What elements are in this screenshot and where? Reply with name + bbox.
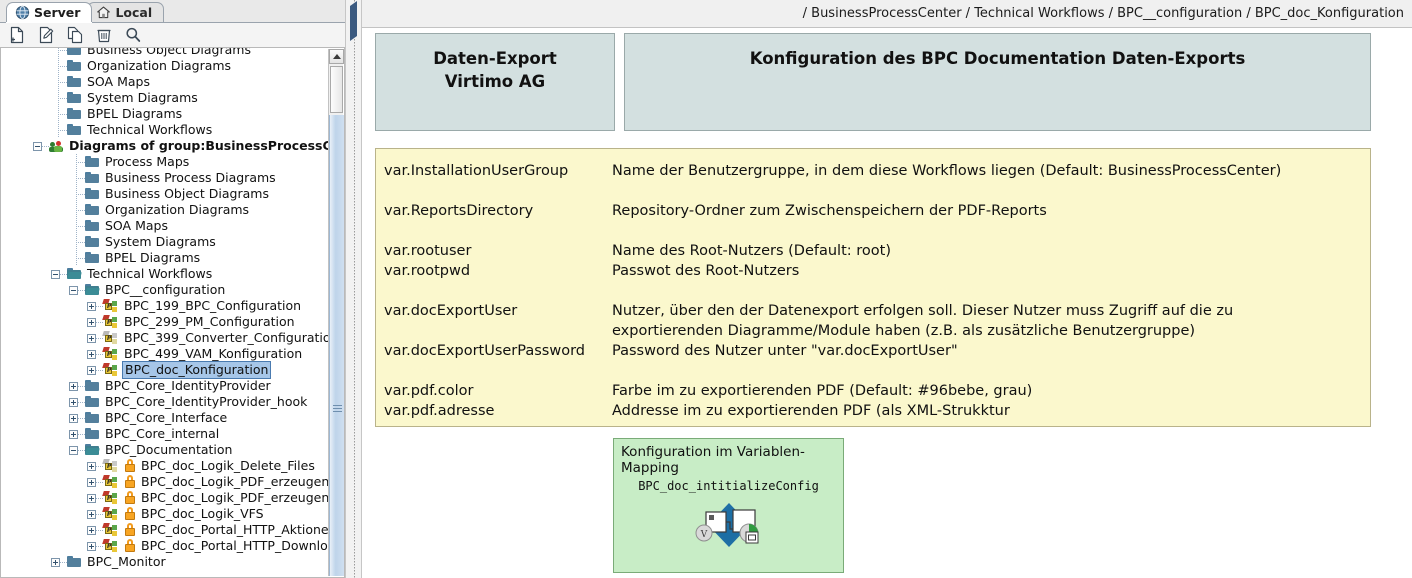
variable-mapping-box[interactable]: Konfiguration im Variablen-Mapping BPC_d…	[613, 438, 844, 573]
tree-connector	[49, 106, 67, 122]
globe-icon	[15, 5, 30, 20]
folder-icon	[85, 396, 100, 409]
diagram-title: Konfiguration des BPC Documentation Date…	[750, 47, 1246, 130]
tree-item[interactable]: BPC_Core_IdentityProvider_hook	[1, 394, 328, 410]
tree-indent	[1, 314, 85, 330]
tree-item[interactable]: BPC_Core_IdentityProvider	[1, 378, 328, 394]
company-title-line1: Daten-Export	[433, 47, 557, 70]
tree-expand-toggle[interactable]	[67, 426, 85, 442]
workflow-diagram-icon: P	[103, 491, 120, 505]
workflow-diagram-icon: P	[103, 347, 120, 361]
company-title-line2: Virtimo AG	[433, 70, 557, 93]
folder-icon	[67, 92, 82, 105]
tree-indent	[1, 298, 85, 314]
tree-item-label: BPC_Core_Interface	[105, 410, 227, 426]
tree-item[interactable]: Organization Diagrams	[1, 202, 328, 218]
tree-expand-toggle[interactable]	[85, 298, 103, 314]
doc-variable-description: Name der Benutzergruppe, in dem diese Wo…	[612, 161, 1281, 181]
tree-indent	[1, 186, 67, 202]
doc-variable-row: var.docExportUserPasswordPassword des Nu…	[384, 341, 958, 361]
tree-item[interactable]: BPC_Core_Interface	[1, 410, 328, 426]
tree-item[interactable]: Process Maps	[1, 154, 328, 170]
tree-item-label: Business Object Diagrams	[87, 48, 251, 58]
variable-mapping-title: Konfiguration im Variablen-Mapping	[621, 444, 843, 476]
tree-connector	[67, 186, 85, 202]
lock-icon	[124, 539, 136, 553]
repository-panel: Server Local	[0, 0, 345, 578]
scrollbar-thumb[interactable]	[330, 66, 343, 113]
diagram-editor-panel: / BusinessProcessCenter / Technical Work…	[362, 0, 1412, 578]
tree-indent	[1, 90, 49, 106]
scrollbar-track[interactable]	[329, 115, 344, 576]
tree-item[interactable]: PBPC_doc_Portal_HTTP_Aktionen	[1, 522, 328, 538]
tree-expand-toggle[interactable]	[85, 490, 103, 506]
repository-tree-container: Business Object DiagramsOrganization Dia…	[0, 48, 345, 578]
tree-indent	[1, 426, 67, 442]
tree-connector	[49, 58, 67, 74]
tree-item[interactable]: BPEL Diagrams	[1, 106, 328, 122]
tree-item-label: Technical Workflows	[87, 122, 212, 138]
tree-item[interactable]: PBPC_499_VAM_Konfiguration	[1, 346, 328, 362]
tree-indent	[1, 330, 85, 346]
folder-icon	[85, 204, 100, 217]
variable-mapping-node-label: BPC_doc_intitializeConfig	[614, 479, 843, 493]
panel-tabstrip: Server Local	[0, 0, 345, 23]
tree-item[interactable]: System Diagrams	[1, 234, 328, 250]
tree-indent	[1, 202, 67, 218]
tree-item[interactable]: PBPC_doc_Portal_HTTP_Downloa	[1, 538, 328, 554]
tree-indent	[1, 378, 67, 394]
tree-connector	[49, 122, 67, 138]
breadcrumb-path: / BusinessProcessCenter / Technical Work…	[803, 6, 1404, 21]
tree-indent	[1, 74, 49, 90]
tree-indent	[1, 106, 49, 122]
tree-expand-toggle[interactable]	[85, 346, 103, 362]
tree-indent	[1, 218, 67, 234]
tree-item-label: BPC__configuration	[105, 282, 225, 298]
header-box-title[interactable]: Konfiguration des BPC Documentation Date…	[624, 33, 1371, 131]
tree-indent	[1, 474, 85, 490]
tree-item-label: Process Maps	[105, 154, 189, 170]
tree-item-label: Business Process Diagrams	[105, 170, 276, 186]
tree-item-label: BPC_199_BPC_Configuration	[124, 298, 301, 314]
lock-icon	[124, 507, 136, 521]
doc-variable-name: var.docExportUserPassword	[384, 341, 612, 361]
tree-indent	[1, 138, 31, 154]
folder-open-icon	[67, 268, 82, 281]
workflow-diagram-icon: P	[103, 459, 120, 473]
tree-item[interactable]: PBPC_doc_Konfiguration	[1, 362, 328, 378]
tree-expand-toggle[interactable]	[67, 282, 85, 298]
lock-icon	[124, 491, 136, 505]
tree-item[interactable]: SOA Maps	[1, 74, 328, 90]
group-icon	[49, 140, 64, 153]
repository-toolbar	[0, 23, 345, 48]
doc-variable-description: Repository-Ordner zum Zwischenspeichern …	[612, 201, 1047, 221]
tree-item-label: BPC_499_VAM_Konfiguration	[124, 346, 302, 362]
tab-server-label: Server	[34, 5, 80, 20]
folder-icon	[85, 156, 100, 169]
folder-icon	[85, 412, 100, 425]
folder-icon	[67, 108, 82, 121]
folder-icon	[85, 188, 100, 201]
tree-expand-toggle[interactable]	[85, 474, 103, 490]
tree-indent	[1, 58, 49, 74]
tree-indent	[1, 554, 49, 570]
split-pane-divider[interactable]	[345, 0, 362, 578]
doc-variable-row: var.rootuserName des Root-Nutzers (Defau…	[384, 241, 891, 261]
doc-variable-name: var.InstallationUserGroup	[384, 161, 612, 181]
copy-icon[interactable]	[65, 26, 84, 45]
tree-connector	[49, 90, 67, 106]
tree-indent	[1, 48, 49, 58]
tree-item[interactable]: Technical Workflows	[1, 122, 328, 138]
folder-open-icon	[85, 284, 100, 297]
documentation-box[interactable]: var.InstallationUserGroupName der Benutz…	[375, 148, 1371, 427]
tree-item[interactable]: BPC_Monitor	[1, 554, 328, 570]
folder-icon	[67, 48, 82, 57]
doc-variable-description: Farbe im zu exportierenden PDF (Default:…	[612, 381, 1032, 401]
workflow-diagram-icon: P	[103, 507, 120, 521]
tree-expand-toggle[interactable]	[67, 378, 85, 394]
doc-variable-description: Name des Root-Nutzers (Default: root)	[612, 241, 891, 261]
home-icon	[96, 5, 111, 20]
doc-variable-row: var.pdf.colorFarbe im zu exportierenden …	[384, 381, 1032, 401]
doc-variable-name: var.rootpwd	[384, 261, 612, 281]
doc-variable-name: var.ReportsDirectory	[384, 201, 612, 221]
folder-icon	[67, 76, 82, 89]
tree-item-label: BPC_doc_Logik_Delete_Files	[141, 458, 315, 474]
tree-indent	[1, 490, 85, 506]
tree-item[interactable]: Technical Workflows	[1, 266, 328, 282]
workflow-diagram-icon: P	[103, 331, 120, 345]
tab-local-label: Local	[115, 5, 152, 20]
tree-item-label: BPC_Core_internal	[105, 426, 219, 442]
tree-item-label: BPC_doc_Portal_HTTP_Aktionen	[141, 522, 328, 538]
tree-indent	[1, 234, 67, 250]
tree-item[interactable]: BPEL Diagrams	[1, 250, 328, 266]
tree-connector	[67, 170, 85, 186]
search-icon[interactable]	[123, 26, 142, 45]
tab-local[interactable]: Local	[87, 2, 164, 22]
tree-expand-toggle[interactable]	[85, 506, 103, 522]
repository-tree[interactable]: Business Object DiagramsOrganization Dia…	[1, 48, 328, 577]
tree-expand-toggle[interactable]	[31, 138, 49, 154]
workflow-mapping-node-icon[interactable]: V	[692, 501, 766, 549]
tree-expand-toggle[interactable]	[85, 330, 103, 346]
tree-indent	[1, 122, 49, 138]
tree-indent	[1, 170, 67, 186]
collapse-left-arrow-icon[interactable]	[350, 6, 358, 16]
header-box-company-text: Daten-Export Virtimo AG	[433, 47, 557, 130]
folder-icon	[85, 236, 100, 249]
tree-indent	[1, 506, 85, 522]
lock-icon	[124, 475, 136, 489]
tree-connector	[49, 48, 67, 58]
tree-item[interactable]: SOA Maps	[1, 218, 328, 234]
tree-item-label: Organization Diagrams	[105, 202, 249, 218]
tree-indent	[1, 538, 85, 554]
tree-connector	[67, 202, 85, 218]
tree-indent	[1, 266, 49, 282]
tree-indent	[1, 154, 67, 170]
header-box-company[interactable]: Daten-Export Virtimo AG	[375, 33, 615, 131]
folder-icon	[85, 428, 100, 441]
tree-item-label: BPC_doc_Konfiguration	[122, 361, 271, 379]
lock-icon	[124, 459, 136, 473]
tree-indent	[1, 362, 85, 378]
tree-item-label: BPC_299_PM_Configuration	[124, 314, 295, 330]
doc-variable-description: Password des Nutzer unter "var.docExport…	[612, 341, 958, 361]
doc-variable-row: var.ReportsDirectoryRepository-Ordner zu…	[384, 201, 1047, 221]
workflow-diagram-icon: P	[103, 299, 120, 313]
tree-item[interactable]: Business Object Diagrams	[1, 186, 328, 202]
tree-item[interactable]: BPC_Core_internal	[1, 426, 328, 442]
folder-icon	[67, 556, 82, 569]
tree-indent	[1, 458, 85, 474]
tree-indent	[1, 522, 85, 538]
tree-expand-toggle[interactable]	[67, 410, 85, 426]
tree-expand-toggle[interactable]	[67, 442, 85, 458]
tree-item[interactable]: PBPC_199_BPC_Configuration	[1, 298, 328, 314]
tree-item[interactable]: Business Process Diagrams	[1, 170, 328, 186]
tree-indent	[1, 442, 67, 458]
doc-variable-name: var.pdf.adresse	[384, 401, 612, 421]
svg-text:V: V	[700, 530, 708, 540]
divider-dots-icon	[354, 0, 355, 578]
doc-variable-name: var.rootuser	[384, 241, 612, 261]
tree-item-label: Diagrams of group:BusinessProcessCenter	[69, 138, 328, 154]
tree-item-label: BPC_Documentation	[105, 442, 232, 458]
doc-variable-description: Addresse im zu exportierenden PDF (als X…	[612, 401, 1010, 421]
doc-variable-row: var.InstallationUserGroupName der Benutz…	[384, 161, 1281, 181]
folder-icon	[85, 380, 100, 393]
doc-variable-name: var.pdf.color	[384, 381, 612, 401]
workflow-diagram-icon: P	[103, 363, 120, 377]
diagram-canvas[interactable]: Daten-Export Virtimo AG Konfiguration de…	[362, 28, 1412, 578]
workflow-diagram-icon: P	[103, 315, 120, 329]
tree-vertical-scrollbar[interactable]	[328, 49, 343, 576]
doc-variable-row: var.rootpwdPasswot des Root-Nutzers	[384, 261, 799, 281]
tree-item[interactable]: Business Object Diagrams	[1, 48, 328, 58]
tree-item-label: Technical Workflows	[87, 266, 212, 282]
tree-item-label: SOA Maps	[105, 218, 168, 234]
tree-expand-toggle[interactable]	[85, 362, 103, 378]
tree-expand-toggle[interactable]	[85, 314, 103, 330]
tree-item-label: BPC_Core_IdentityProvider	[105, 378, 271, 394]
doc-variable-row: var.pdf.adresseAddresse im zu exportiere…	[384, 401, 1010, 421]
tree-expand-toggle[interactable]	[67, 394, 85, 410]
tree-item-label: BPEL Diagrams	[105, 250, 200, 266]
tree-indent	[1, 250, 67, 266]
tree-item[interactable]: BPC__configuration	[1, 282, 328, 298]
doc-variable-name: var.docExportUser	[384, 301, 612, 321]
workflow-diagram-icon: P	[103, 523, 120, 537]
tree-expand-toggle[interactable]	[85, 458, 103, 474]
tree-item-label: Organization Diagrams	[87, 58, 231, 74]
tree-item[interactable]: PBPC_doc_Logik_VFS	[1, 506, 328, 522]
tree-item[interactable]: Organization Diagrams	[1, 58, 328, 74]
tree-item-label: BPEL Diagrams	[87, 106, 182, 122]
folder-icon	[67, 60, 82, 73]
tree-indent	[1, 282, 67, 298]
tree-item[interactable]: PBPC_doc_Logik_PDF_erzeugen_	[1, 490, 328, 506]
tree-item-label: BPC_Core_IdentityProvider_hook	[105, 394, 307, 410]
tree-item[interactable]: System Diagrams	[1, 90, 328, 106]
doc-variable-description: exportierenden Diagramme/Module haben (z…	[612, 321, 1195, 341]
tree-item-label: BPC_doc_Logik_PDF_erzeugen_	[141, 490, 328, 506]
tree-expand-toggle[interactable]	[49, 266, 67, 282]
doc-variable-description: Nutzer, über den der Datenexport erfolge…	[612, 301, 1233, 321]
tree-connector	[49, 74, 67, 90]
tree-connector	[67, 250, 85, 266]
tree-item-label: System Diagrams	[87, 90, 198, 106]
workflow-diagram-icon: P	[103, 539, 120, 553]
lock-icon	[124, 523, 136, 537]
application-window: Server Local	[0, 0, 1412, 578]
breadcrumb: / BusinessProcessCenter / Technical Work…	[362, 0, 1412, 28]
tree-item-label: BPC_doc_Logik_VFS	[141, 506, 264, 522]
tree-item-label: System Diagrams	[105, 234, 216, 250]
tree-indent	[1, 346, 85, 362]
tree-connector	[67, 154, 85, 170]
tree-item[interactable]: BPC_Documentation	[1, 442, 328, 458]
tree-item-label: BPC_doc_Logik_PDF_erzeugen	[141, 474, 328, 490]
delete-trash-icon[interactable]	[94, 26, 113, 45]
edit-file-icon[interactable]	[36, 26, 55, 45]
tree-item[interactable]: Diagrams of group:BusinessProcessCenter	[1, 138, 328, 154]
doc-variable-row: var.docExportUserNutzer, über den der Da…	[384, 301, 1233, 321]
tree-item-label: BPC_399_Converter_Configuration	[124, 330, 328, 346]
folder-icon	[85, 172, 100, 185]
tree-item[interactable]: PBPC_doc_Logik_Delete_Files	[1, 458, 328, 474]
folder-open-icon	[85, 444, 100, 457]
folder-icon	[85, 220, 100, 233]
tree-item-label: SOA Maps	[87, 74, 150, 90]
folder-icon	[85, 252, 100, 265]
tree-item-label: Business Object Diagrams	[105, 186, 269, 202]
folder-icon	[67, 124, 82, 137]
doc-variable-row: exportierenden Diagramme/Module haben (z…	[384, 321, 1195, 341]
new-file-icon[interactable]	[7, 26, 26, 45]
tree-item-label: BPC_Monitor	[87, 554, 166, 570]
tree-item[interactable]: PBPC_doc_Logik_PDF_erzeugen	[1, 474, 328, 490]
doc-variable-name	[384, 321, 612, 341]
scroll-up-arrow[interactable]	[329, 49, 344, 64]
tree-indent	[1, 410, 67, 426]
collapse-right-arrow-icon[interactable]	[350, 22, 358, 32]
tab-server[interactable]: Server	[6, 2, 92, 22]
workflow-diagram-icon: P	[103, 475, 120, 489]
doc-variable-description: Passwot des Root-Nutzers	[612, 261, 799, 281]
tree-connector	[67, 218, 85, 234]
tree-item-label: BPC_doc_Portal_HTTP_Downloa	[141, 538, 328, 554]
tree-expand-toggle[interactable]	[85, 522, 103, 538]
tree-indent	[1, 394, 67, 410]
tree-expand-toggle[interactable]	[85, 538, 103, 554]
tree-item[interactable]: PBPC_399_Converter_Configuration	[1, 330, 328, 346]
tree-expand-toggle[interactable]	[49, 554, 67, 570]
scrollbar-grip-icon	[333, 405, 342, 412]
tree-connector	[67, 234, 85, 250]
tree-item[interactable]: PBPC_299_PM_Configuration	[1, 314, 328, 330]
